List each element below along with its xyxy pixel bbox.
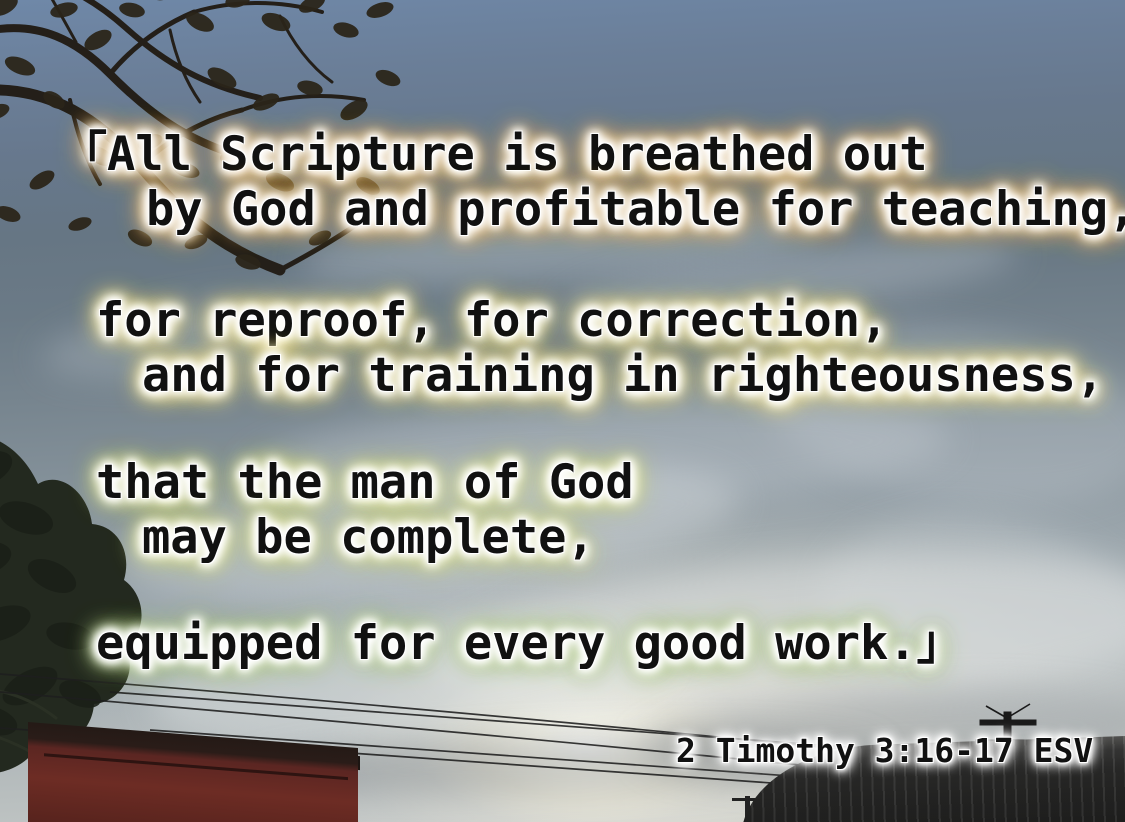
tree-branches-icon (0, 0, 410, 300)
cloud-streak (115, 438, 744, 622)
cloud-streak (37, 275, 403, 394)
red-building (28, 722, 358, 822)
cloud-streak (426, 534, 1125, 737)
verse-image-canvas: 「All Scripture is breathed out by God an… (0, 0, 1125, 822)
cloud-streak (803, 487, 1125, 753)
sky-photo-background (0, 0, 1125, 822)
cloud-streak (248, 382, 953, 528)
cloud-streak (750, 303, 1125, 527)
cloud-streak (298, 192, 822, 298)
cloud-streak (558, 222, 1022, 338)
curved-metal-roof (738, 735, 1125, 822)
